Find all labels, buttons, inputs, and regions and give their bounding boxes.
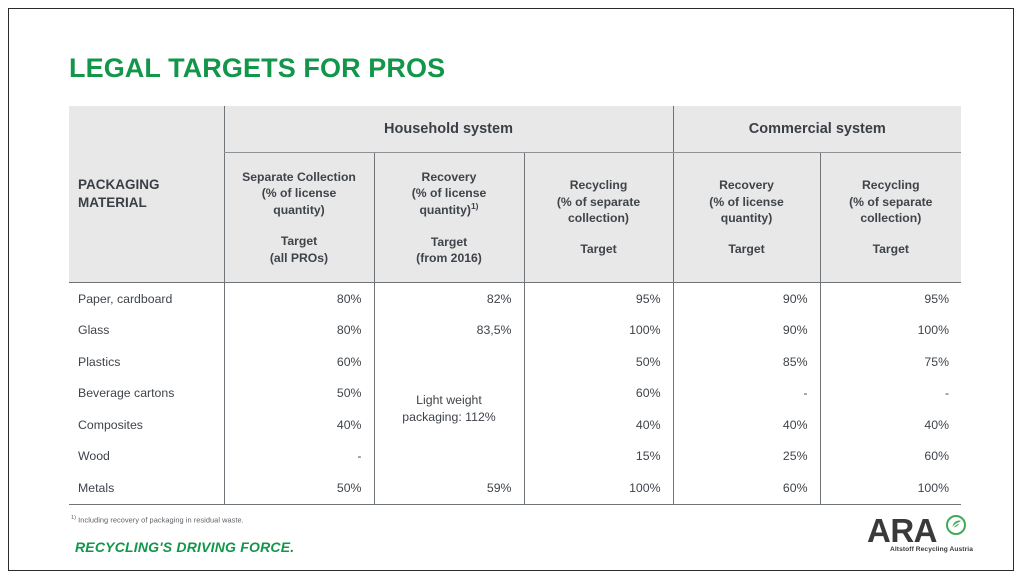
material-header-line-2: MATERIAL: [78, 195, 147, 210]
col-name-1: Recovery: [422, 170, 477, 184]
col-target-2a: Target: [580, 242, 616, 256]
col-unit-1b: quantity): [419, 203, 470, 217]
cell-hh-recovery: 59%: [374, 472, 524, 504]
cell-com-recycling: 60%: [820, 441, 961, 473]
cell-hh-separate-collection: 50%: [224, 472, 374, 504]
col-name-3: Recovery: [719, 178, 774, 192]
slide-canvas: LEGAL TARGETS FOR PROS PACKAGING MATERIA…: [8, 8, 1014, 571]
cell-hh-recycling: 15%: [524, 441, 673, 473]
cell-hh-recovery: 83,5%: [374, 315, 524, 347]
col-target-3a: Target: [728, 242, 764, 256]
legal-targets-table: PACKAGING MATERIAL Household system Comm…: [69, 106, 961, 505]
cell-hh-recycling: 95%: [524, 283, 673, 315]
logo-subtitle: Altstoff Recycling Austria: [890, 546, 973, 553]
cell-com-recycling: -: [820, 378, 961, 410]
cell-hh-recycling: 60%: [524, 378, 673, 410]
column-header-hh-recycling: Recycling (% of separate collection) Tar…: [524, 153, 673, 283]
cell-com-recovery: -: [673, 378, 820, 410]
cell-material: Beverage cartons: [69, 378, 224, 410]
col-unit-2b: collection): [568, 211, 629, 225]
footnote: 1) Including recovery of packaging in re…: [71, 515, 244, 524]
targets-table-wrapper: PACKAGING MATERIAL Household system Comm…: [69, 106, 961, 505]
merged-recovery-line-1: Light weight: [416, 393, 482, 407]
cell-com-recovery: 90%: [673, 315, 820, 347]
cell-hh-recycling: 40%: [524, 409, 673, 441]
cell-com-recovery: 25%: [673, 441, 820, 473]
system-header-household: Household system: [224, 106, 673, 153]
col-unit-4a: (% of separate: [849, 195, 932, 209]
ara-logo: ARA Altstoff Recycling Austria: [867, 514, 992, 562]
col-target-4a: Target: [873, 242, 909, 256]
column-header-hh-separate-collection: Separate Collection (% of license quanti…: [224, 153, 374, 283]
cell-material: Plastics: [69, 346, 224, 378]
footnote-text: Including recovery of packaging in resid…: [76, 515, 244, 524]
page-title: LEGAL TARGETS FOR PROS: [69, 53, 445, 84]
cell-hh-recycling: 100%: [524, 472, 673, 504]
column-header-com-recovery: Recovery (% of license quantity) Target: [673, 153, 820, 283]
table-row: Glass 80% 83,5% 100% 90% 100%: [69, 315, 961, 347]
col-unit-3a: (% of license: [709, 195, 784, 209]
col-unit-4b: collection): [860, 211, 921, 225]
table-head: PACKAGING MATERIAL Household system Comm…: [69, 106, 961, 283]
cell-com-recycling: 75%: [820, 346, 961, 378]
system-header-row: PACKAGING MATERIAL Household system Comm…: [69, 106, 961, 153]
cell-hh-recovery-merged: Light weight packaging: 112%: [374, 346, 524, 472]
cell-hh-recycling: 100%: [524, 315, 673, 347]
col-unit-3b: quantity): [721, 211, 772, 225]
cell-com-recovery: 85%: [673, 346, 820, 378]
brand-tagline: RECYCLING'S DRIVING FORCE.: [75, 539, 294, 555]
table-row: Plastics 60% Light weight packaging: 112…: [69, 346, 961, 378]
cell-material: Metals: [69, 472, 224, 504]
table-row: Metals 50% 59% 100% 60% 100%: [69, 472, 961, 504]
col-unit-1a: (% of license: [412, 186, 487, 200]
cell-hh-recovery: 82%: [374, 283, 524, 315]
recycling-leaf-icon: [946, 515, 966, 535]
cell-com-recovery: 60%: [673, 472, 820, 504]
column-header-com-recycling: Recycling (% of separate collection) Tar…: [820, 153, 961, 283]
col-target-0a: Target: [281, 234, 317, 248]
col-name-4: Recycling: [862, 178, 920, 192]
system-header-commercial: Commercial system: [673, 106, 961, 153]
packaging-material-header: PACKAGING MATERIAL: [69, 106, 224, 283]
column-header-hh-recovery: Recovery (% of license quantity)1) Targe…: [374, 153, 524, 283]
col-target-1a: Target: [431, 235, 467, 249]
col-unit-0b: quantity): [273, 203, 324, 217]
cell-material: Wood: [69, 441, 224, 473]
cell-com-recovery: 40%: [673, 409, 820, 441]
logo-wordmark: ARA: [867, 514, 937, 547]
cell-material: Glass: [69, 315, 224, 347]
col-name-2: Recycling: [570, 178, 628, 192]
col-target-1b: (from 2016): [416, 251, 482, 265]
table-row: Paper, cardboard 80% 82% 95% 90% 95%: [69, 283, 961, 315]
cell-hh-separate-collection: 60%: [224, 346, 374, 378]
merged-recovery-line-2: packaging: 112%: [402, 410, 495, 424]
cell-com-recycling: 100%: [820, 472, 961, 504]
table-body: Paper, cardboard 80% 82% 95% 90% 95% Gla…: [69, 283, 961, 505]
column-footnote-mark: 1): [471, 201, 479, 211]
cell-hh-separate-collection: -: [224, 441, 374, 473]
cell-material: Composites: [69, 409, 224, 441]
cell-hh-recycling: 50%: [524, 346, 673, 378]
cell-material: Paper, cardboard: [69, 283, 224, 315]
cell-hh-separate-collection: 50%: [224, 378, 374, 410]
cell-com-recovery: 90%: [673, 283, 820, 315]
col-name-0: Separate Collection: [242, 170, 356, 184]
cell-hh-separate-collection: 80%: [224, 283, 374, 315]
cell-com-recycling: 95%: [820, 283, 961, 315]
cell-com-recycling: 40%: [820, 409, 961, 441]
col-unit-0a: (% of license: [262, 186, 337, 200]
cell-hh-separate-collection: 80%: [224, 315, 374, 347]
cell-hh-separate-collection: 40%: [224, 409, 374, 441]
col-unit-2a: (% of separate: [557, 195, 640, 209]
cell-com-recycling: 100%: [820, 315, 961, 347]
material-header-line-1: PACKAGING: [78, 177, 160, 192]
col-target-0b: (all PROs): [270, 251, 328, 265]
